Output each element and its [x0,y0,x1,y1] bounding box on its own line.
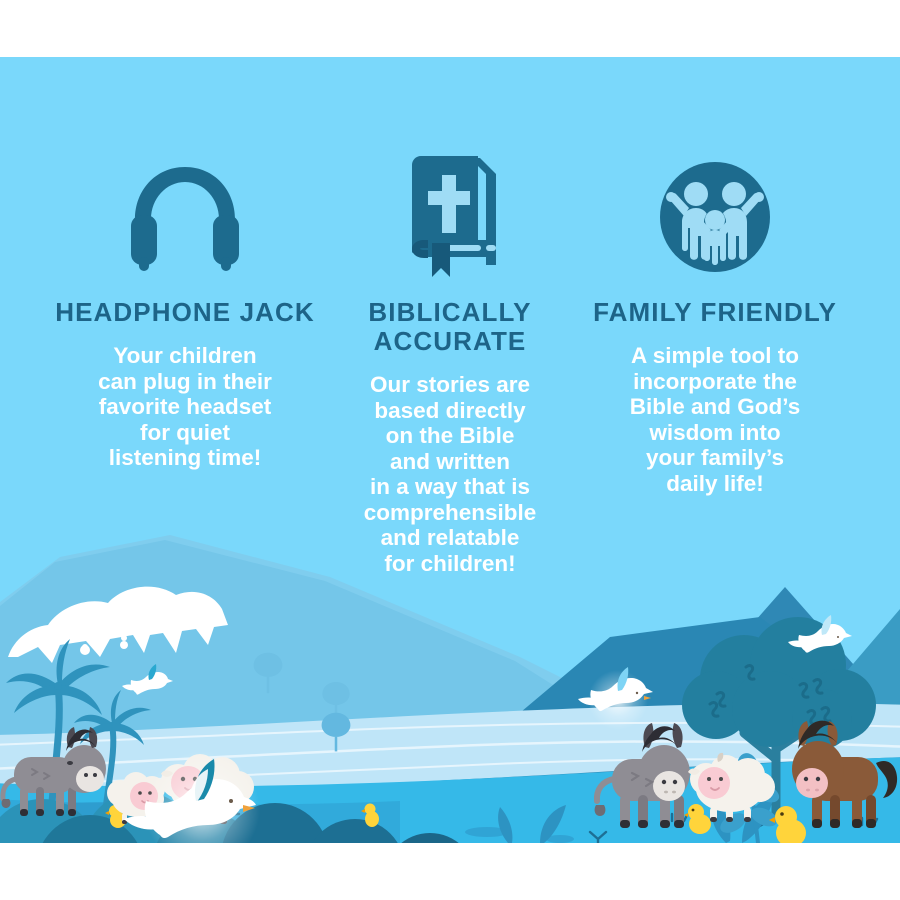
feature-title: HEADPHONE JACK [55,298,315,327]
feature-body: Your children can plug in their favorite… [98,343,272,471]
feature-family-friendly: FAMILY FRIENDLY A simple tool to incorpo… [583,152,848,496]
feature-title: BIBLICALLY ACCURATE [318,298,583,356]
feature-body: Our stories are based directly on the Bi… [364,372,537,576]
infographic-page: HEADPHONE JACK Your children can plug in… [0,0,900,900]
bible-book-icon [390,152,510,282]
features-row: HEADPHONE JACK Your children can plug in… [0,152,900,576]
feature-panel: HEADPHONE JACK Your children can plug in… [0,57,900,843]
feature-biblically-accurate: BIBLICALLY ACCURATE Our stories are base… [318,152,583,576]
snow-fleck [80,645,90,655]
snow-fleck [121,635,127,641]
feature-headphone-jack: HEADPHONE JACK Your children can plug in… [53,152,318,471]
top-white-band [0,0,900,57]
feature-body: A simple tool to incorporate the Bible a… [630,343,800,496]
headphones-icon [125,152,245,282]
feature-title: FAMILY FRIENDLY [593,298,837,327]
family-circle-icon [656,152,774,282]
snow-fleck [120,641,128,649]
bottom-white-band [0,843,900,900]
